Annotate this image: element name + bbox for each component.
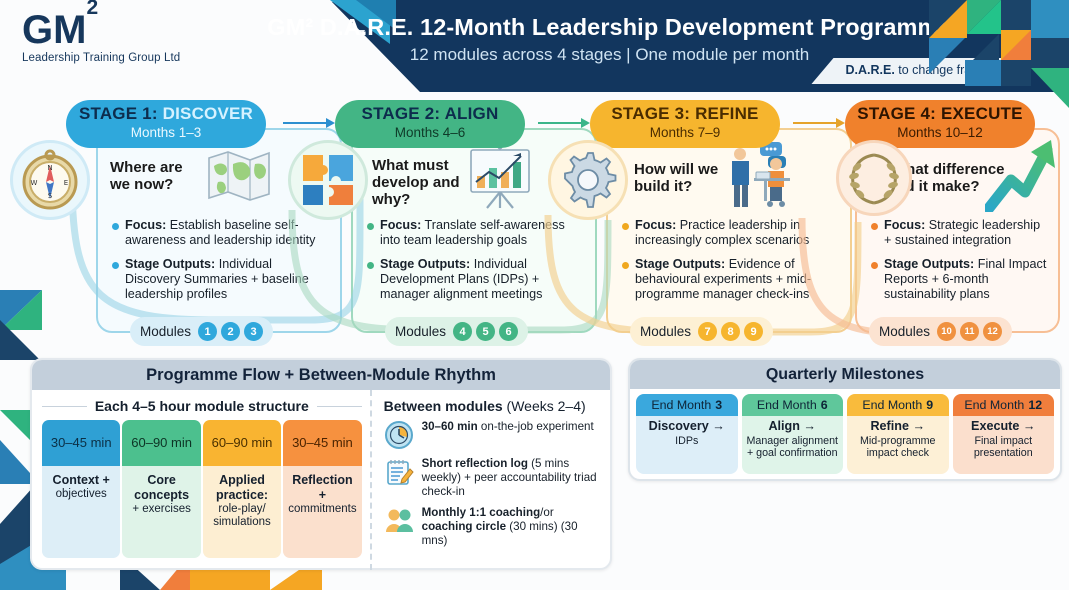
infographic-canvas: GM2 Leadership Training Group Ltd GM² D.… <box>0 0 1069 590</box>
puzzle-icon <box>288 140 368 220</box>
stage-number: STAGE 1: <box>79 104 158 123</box>
module-col-applied[interactable]: 60–90 min Applied practice: role-play/ s… <box>203 420 281 558</box>
milestone-month: 12 <box>1028 398 1042 412</box>
stage-connector-2 <box>538 118 590 128</box>
milestone-label-text: End Month <box>964 398 1024 412</box>
stage-3-header[interactable]: STAGE 3: REFINE Months 7–9 <box>590 100 780 148</box>
stage-name: DISCOVER <box>163 104 253 123</box>
page-title: GM² D.A.R.E. 12-Month Leadership Develop… <box>170 14 1049 41</box>
notepad-pencil-icon <box>384 457 414 487</box>
milestone-label: End Month9 <box>847 394 949 416</box>
quarterly-milestones-title: Quarterly Milestones <box>630 360 1060 389</box>
module-detail: objectives <box>56 488 107 500</box>
stage-connector-1 <box>283 118 335 128</box>
milestone-month-3[interactable]: End Month3 Discovery → IDPs <box>636 394 738 474</box>
modules-label: Modules <box>395 324 446 339</box>
logo: GM2 Leadership Training Group Ltd <box>22 10 180 64</box>
milestone-month: 3 <box>715 398 722 412</box>
milestone-body: Execute → Final impact presentation <box>953 416 1055 474</box>
module-badge[interactable]: 3 <box>244 322 263 341</box>
stage-2-question: What must develop and why? <box>372 158 472 208</box>
milestone-label: End Month3 <box>636 394 738 416</box>
framework-tag-bold: D.A.R.E. <box>845 63 894 77</box>
milestone-label-text: End Month <box>651 398 711 412</box>
between-modules-section: Between modules (Weeks 2–4) 30–60 min on… <box>370 390 610 570</box>
between-item-text: 30–60 min on-the-job experiment <box>422 420 594 450</box>
milestones-grid: End Month3 Discovery → IDPs End Month6 A… <box>630 389 1060 479</box>
gear-icon <box>548 140 628 220</box>
rule-left <box>42 406 87 407</box>
two-people-icon <box>384 506 414 536</box>
module-badge[interactable]: 2 <box>221 322 240 341</box>
between-item-reflection-log: Short reflection log (5 mins weekly) + p… <box>384 457 602 499</box>
milestone-headline: Refine → <box>850 419 946 434</box>
module-desc: Context + objectives <box>42 466 120 558</box>
modules-label: Modules <box>879 324 930 339</box>
decor-mosaic-top-right <box>929 0 1069 108</box>
between-item-text: Monthly 1:1 coaching/or coaching circle … <box>422 506 602 548</box>
stage-months: Months 4–6 <box>335 125 525 140</box>
stage-number: STAGE 3: <box>611 104 690 123</box>
module-badge[interactable]: 12 <box>983 322 1002 341</box>
between-bold: Monthly 1:1 coaching <box>422 506 541 519</box>
module-detail: commitments <box>288 503 356 515</box>
stage-name: EXECUTE <box>941 104 1023 123</box>
module-duration: 30–45 min <box>283 420 361 466</box>
module-badge[interactable]: 11 <box>960 322 979 341</box>
between-modules-title: Between modules (Weeks 2–4) <box>384 398 602 414</box>
milestone-headline: Align → <box>745 419 841 434</box>
module-duration: 60–90 min <box>203 420 281 466</box>
milestone-month: 6 <box>821 398 828 412</box>
between-title-rest: (Weeks 2–4) <box>503 398 586 414</box>
module-detail: + exercises <box>132 503 190 515</box>
stage-2-modules[interactable]: Modules 4 5 6 <box>385 317 528 346</box>
module-col-context[interactable]: 30–45 min Context + objectives <box>42 420 120 558</box>
between-item-coaching: Monthly 1:1 coaching/or coaching circle … <box>384 506 602 548</box>
module-badge[interactable]: 9 <box>744 322 763 341</box>
module-title: Applied practice: <box>208 473 276 503</box>
module-badge[interactable]: 1 <box>198 322 217 341</box>
module-col-reflection[interactable]: 30–45 min Reflection + commitments <box>283 420 361 558</box>
laurel-wreath-icon <box>836 140 912 216</box>
between-item-experiment: 30–60 min on-the-job experiment <box>384 420 602 450</box>
svg-text:E: E <box>64 179 68 187</box>
stage-name: ALIGN <box>445 104 499 123</box>
coaching-people-icon <box>726 140 798 215</box>
modules-label: Modules <box>140 324 191 339</box>
stage-name: REFINE <box>695 104 759 123</box>
milestone-body: Align → Manager alignment + goal confirm… <box>742 416 844 474</box>
modules-label: Modules <box>640 324 691 339</box>
module-badge[interactable]: 4 <box>453 322 472 341</box>
module-duration: 60–90 min <box>122 420 200 466</box>
module-structure-section: Each 4–5 hour module structure 30–45 min… <box>32 390 370 570</box>
milestone-detail: IDPs <box>675 435 698 447</box>
milestone-month: 9 <box>926 398 933 412</box>
milestone-month-12[interactable]: End Month12 Execute → Final impact prese… <box>953 394 1055 474</box>
stage-2-header[interactable]: STAGE 2: ALIGN Months 4–6 <box>335 100 525 148</box>
milestone-label-text: End Month <box>862 398 922 412</box>
clock-icon <box>384 420 414 450</box>
milestone-label: End Month12 <box>953 394 1055 416</box>
milestone-body: Discovery → IDPs <box>636 416 738 474</box>
module-detail: role-play/ simulations <box>213 503 271 529</box>
world-map-icon <box>207 148 271 207</box>
logo-subtitle: Leadership Training Group Ltd <box>22 52 180 64</box>
module-structure-grid: 30–45 min Context + objectives 60–90 min… <box>42 420 362 558</box>
stage-4-modules[interactable]: Modules 10 11 12 <box>869 317 1012 346</box>
milestone-headline: Discovery → <box>639 419 735 434</box>
module-col-core[interactable]: 60–90 min Core concepts + exercises <box>122 420 200 558</box>
stage-number: STAGE 2: <box>362 104 441 123</box>
module-structure-label: Each 4–5 hour module structure <box>95 398 309 414</box>
quarterly-milestones-panel: Quarterly Milestones End Month3 Discover… <box>628 358 1062 481</box>
programme-flow-title: Programme Flow + Between-Module Rhythm <box>32 360 610 390</box>
between-bold: 30–60 min <box>422 420 478 433</box>
module-badge[interactable]: 6 <box>499 322 518 341</box>
programme-flow-panel: Programme Flow + Between-Module Rhythm E… <box>30 358 612 570</box>
module-desc: Core concepts + exercises <box>122 466 200 558</box>
stage-1-question: Where are we now? <box>110 160 206 194</box>
module-title: Core concepts <box>127 473 195 503</box>
module-badge[interactable]: 10 <box>937 322 956 341</box>
svg-text:S: S <box>48 192 53 200</box>
between-bold2: coaching circle <box>422 520 506 533</box>
module-title: Context + <box>47 473 115 488</box>
bar-chart-presentation-icon <box>467 142 533 215</box>
stage-3-modules[interactable]: Modules 7 8 9 <box>630 317 773 346</box>
between-rest: on-the-job experiment <box>478 420 594 433</box>
module-desc: Reflection + commitments <box>283 466 361 558</box>
module-duration: 30–45 min <box>42 420 120 466</box>
milestone-month-6[interactable]: End Month6 Align → Manager alignment + g… <box>742 394 844 474</box>
milestone-body: Refine → Mid-programme impact check <box>847 416 949 474</box>
milestone-label: End Month6 <box>742 394 844 416</box>
between-bold: Short reflection log <box>422 457 528 470</box>
rule-right <box>317 406 362 407</box>
milestone-detail: Final impact presentation <box>974 435 1033 460</box>
stage-months: Months 1–3 <box>66 125 266 140</box>
stage-months: Months 7–9 <box>590 125 780 140</box>
stage-3-question: How will we build it? <box>634 162 734 196</box>
between-item-text: Short reflection log (5 mins weekly) + p… <box>422 457 602 499</box>
module-badge[interactable]: 8 <box>721 322 740 341</box>
between-rest: /or <box>540 506 554 519</box>
module-title: Reflection + <box>288 473 356 503</box>
milestone-label-text: End Month <box>757 398 817 412</box>
milestone-detail: Manager alignment + goal confirmation <box>747 435 839 460</box>
stage-1-modules[interactable]: Modules 1 2 3 <box>130 317 273 346</box>
module-badge[interactable]: 7 <box>698 322 717 341</box>
stage-months: Months 10–12 <box>845 125 1035 140</box>
logo-text: GM <box>22 8 86 52</box>
stage-1-header[interactable]: STAGE 1: DISCOVER Months 1–3 <box>66 100 266 148</box>
between-title-bold: Between modules <box>384 398 503 414</box>
module-desc: Applied practice: role-play/ simulations <box>203 466 281 558</box>
compass-icon: N S W E <box>10 140 90 220</box>
logo-superscript: 2 <box>86 0 98 19</box>
stage-connector-3 <box>793 118 845 128</box>
module-structure-title: Each 4–5 hour module structure <box>42 398 362 414</box>
svg-text:N: N <box>47 164 52 172</box>
stage-number: STAGE 4: <box>857 104 936 123</box>
module-badge[interactable]: 5 <box>476 322 495 341</box>
milestone-month-9[interactable]: End Month9 Refine → Mid-programme impact… <box>847 394 949 474</box>
milestone-detail: Mid-programme impact check <box>860 435 935 460</box>
svg-text:W: W <box>31 179 38 187</box>
milestone-headline: Execute → <box>956 419 1052 434</box>
